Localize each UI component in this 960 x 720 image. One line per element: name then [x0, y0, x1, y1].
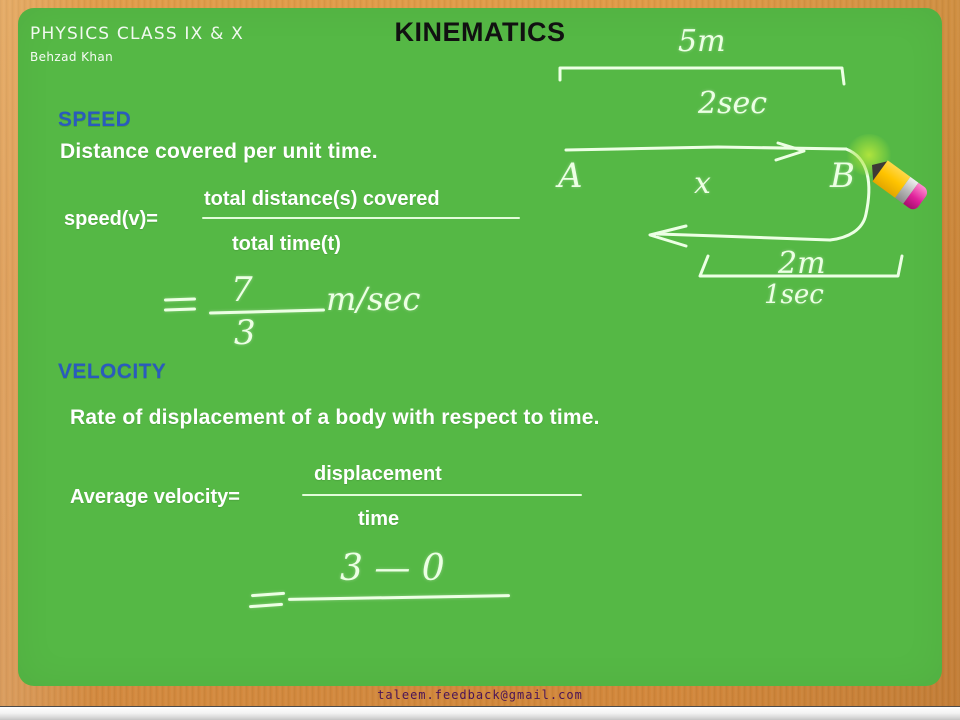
ink-speed-fraction-bar: [209, 308, 325, 314]
speed-fraction-bar: [202, 217, 520, 219]
speed-definition: Distance covered per unit time.: [60, 140, 378, 164]
page-title: KINEMATICS: [18, 17, 942, 48]
arrow-right-head: [776, 143, 804, 160]
top-bracket: [560, 68, 844, 84]
velocity-equation-label: Average velocity=: [70, 486, 240, 509]
velocity-fraction-numerator: displacement: [314, 463, 442, 486]
section-heading-velocity: VELOCITY: [58, 360, 166, 384]
arrow-left-head: [650, 226, 686, 246]
ink-speed-denominator: 3: [234, 313, 256, 353]
speed-equation-label: speed(v)=: [64, 208, 158, 231]
speed-fraction-denominator: total time(t): [232, 233, 341, 256]
ink-velocity-numerator: 3 — 0: [340, 548, 445, 589]
lecture-video-frame: PHYSICS CLASS IX & X Behzad Khan KINEMAT…: [0, 0, 960, 720]
velocity-fraction-bar: [302, 494, 582, 496]
footer-email: taleem.feedback@gmail.com: [0, 688, 960, 702]
ink-segment-x-label: x: [694, 166, 711, 201]
ink-return-time-label: 1sec: [764, 280, 824, 310]
ink-equals-bottom-velocity: [249, 603, 283, 608]
ink-top-time-label: 2sec: [698, 86, 767, 121]
velocity-fraction-denominator: time: [358, 508, 399, 531]
green-whiteboard[interactable]: PHYSICS CLASS IX & X Behzad Khan KINEMAT…: [18, 8, 942, 686]
ink-point-a-label: A: [558, 156, 583, 196]
ink-velocity-fraction-bar: [288, 594, 510, 601]
ink-speed-numerator: 7: [231, 270, 253, 310]
author-label: Behzad Khan: [30, 50, 113, 64]
ink-equals-top-speed: [164, 297, 196, 301]
ink-equals-top-velocity: [251, 592, 285, 597]
bottom-bracket: [700, 256, 902, 276]
ink-return-distance-label: 2m: [778, 246, 826, 281]
ink-equals-bottom-speed: [164, 307, 196, 311]
speed-fraction-numerator: total distance(s) covered: [204, 188, 440, 211]
bottom-strip: [0, 706, 960, 720]
section-heading-speed: SPEED: [58, 108, 131, 132]
return-line: [658, 234, 830, 240]
travel-line-ab: [566, 147, 846, 150]
ink-speed-unit: m/sec: [326, 280, 420, 318]
velocity-definition: Rate of displacement of a body with resp…: [70, 406, 600, 430]
